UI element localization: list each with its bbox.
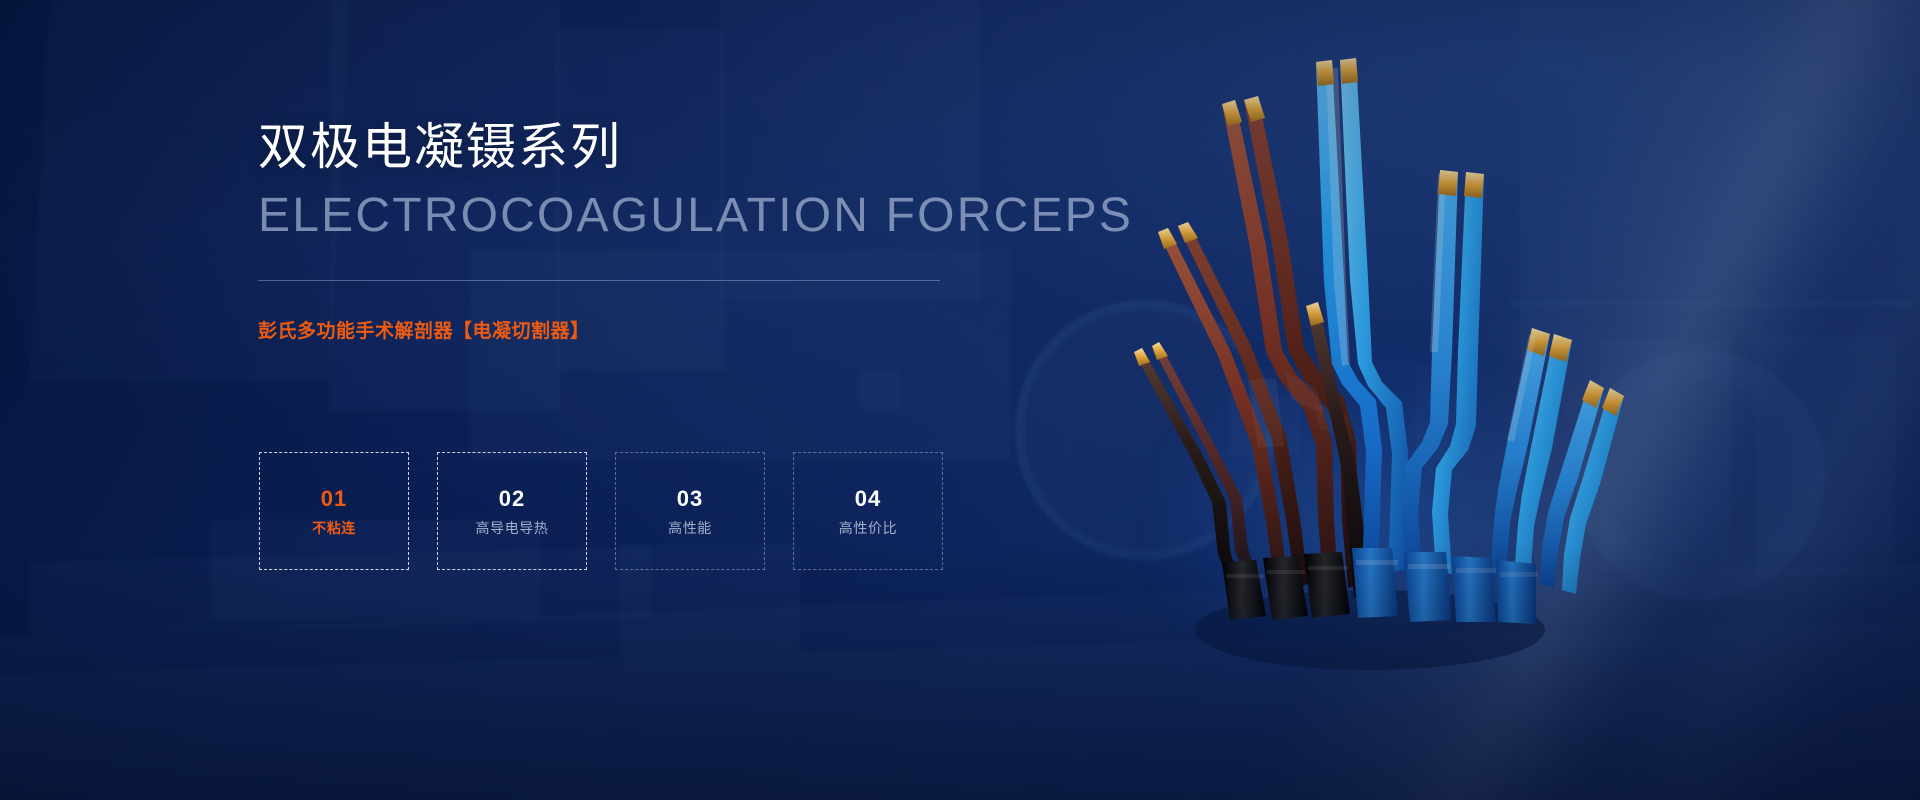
banner-copy: 双极电凝镊系列 ELECTROCOAGULATION FORCEPS 彭氏多功能… [258, 118, 1098, 343]
feature-label: 高性价比 [839, 521, 897, 535]
feature-card-02[interactable]: 02 高导电导热 [437, 452, 587, 570]
feature-number: 03 [677, 488, 703, 510]
divider [258, 280, 940, 281]
feature-number: 01 [321, 488, 347, 510]
feature-label: 高性能 [668, 521, 712, 535]
feature-label: 高导电导热 [476, 521, 549, 535]
feature-card-03[interactable]: 03 高性能 [615, 452, 765, 570]
product-banner: 双极电凝镊系列 ELECTROCOAGULATION FORCEPS 彭氏多功能… [0, 0, 1920, 800]
feature-number: 04 [855, 488, 881, 510]
page-title: 双极电凝镊系列 [258, 118, 1098, 177]
feature-card-04[interactable]: 04 高性价比 [793, 452, 943, 570]
feature-label: 不粘连 [312, 521, 356, 535]
product-image [1080, 50, 1640, 690]
feature-number: 02 [499, 488, 525, 510]
product-tagline: 彭氏多功能手术解剖器【电凝切割器】 [258, 316, 1098, 343]
page-subtitle-english: ELECTROCOAGULATION FORCEPS [258, 191, 1098, 241]
feature-card-01[interactable]: 01 不粘连 [259, 452, 409, 570]
feature-list: 01 不粘连 02 高导电导热 03 高性能 04 高性价比 [259, 452, 943, 570]
